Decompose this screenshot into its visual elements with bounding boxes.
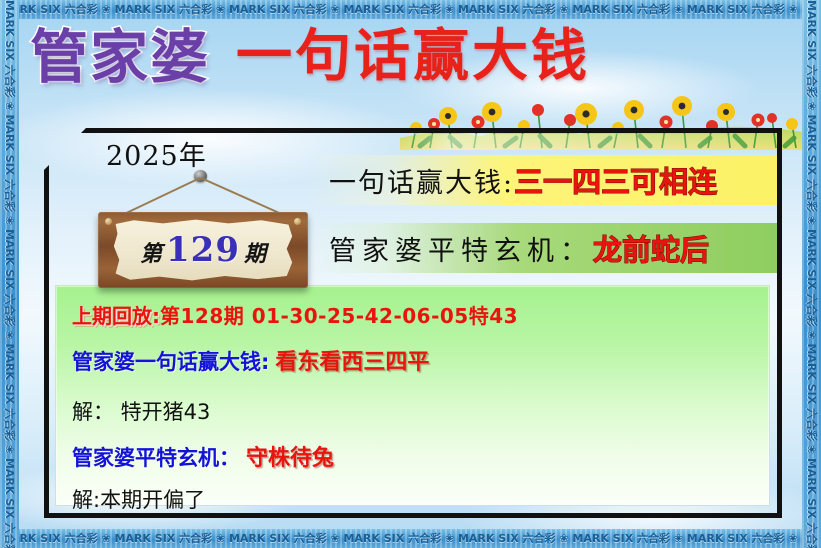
- issue-prefix: 第: [140, 243, 162, 265]
- banner-green-value: 龙前蛇后: [593, 227, 709, 269]
- banner-green-label: 管家婆平特玄机：: [329, 229, 593, 268]
- border-left: MARK SIX 六合彩 ❀ MARK SIX 六合彩 ❀ MARK SIX 六…: [0, 0, 19, 548]
- sign-paper: 第 129 期: [112, 219, 294, 281]
- brand-title: 管家婆: [30, 28, 210, 86]
- issue-text: 第 129 期: [140, 233, 266, 267]
- explain-2-text: 解:本期开偏了: [72, 484, 205, 514]
- hanging-sign: 第 129 期: [80, 170, 325, 290]
- border-right-text: MARK SIX 六合彩 ❀ MARK SIX 六合彩 ❀ MARK SIX 六…: [802, 0, 821, 548]
- page-root: 管家婆 一句话赢大钱 一句话赢大钱: 三一四三可相连 管家婆平特玄机： 龙前蛇后…: [0, 0, 821, 548]
- border-right: MARK SIX 六合彩 ❀ MARK SIX 六合彩 ❀ MARK SIX 六…: [802, 0, 821, 548]
- banner-yellow-value: 三一四三可相连: [514, 159, 717, 201]
- border-top: MARK SIX 六合彩 ❀ MARK SIX 六合彩 ❀ MARK SIX 六…: [0, 0, 821, 19]
- panel-row-xuanji: 管家婆平特玄机： 守株待兔: [72, 440, 769, 472]
- headline-slogan: 一句话赢大钱: [236, 28, 590, 84]
- issue-number: 129: [166, 233, 240, 267]
- banner-green: 管家婆平特玄机： 龙前蛇后: [307, 223, 777, 273]
- panel-row-explain-2: 解:本期开偏了: [72, 484, 769, 514]
- slogan-label: 管家婆一句话赢大钱:: [72, 346, 269, 376]
- border-bottom-text: MARK SIX 六合彩 ❀ MARK SIX 六合彩 ❀ MARK SIX 六…: [0, 529, 821, 548]
- page-headline: 管家婆 一句话赢大钱: [30, 28, 590, 86]
- content-panel: 上期回放: 第128期 01-30-25-42-06-05特43 管家婆一句话赢…: [55, 285, 770, 506]
- issue-suffix: 期: [244, 243, 266, 265]
- sign-plaque: 第 129 期: [98, 212, 308, 288]
- xuanji-label: 管家婆平特玄机：: [72, 442, 240, 472]
- explain-1-text: 解： 特开猪43: [72, 396, 210, 426]
- replay-value: 第128期 01-30-25-42-06-05特43: [160, 300, 518, 329]
- border-bottom: MARK SIX 六合彩 ❀ MARK SIX 六合彩 ❀ MARK SIX 六…: [0, 529, 821, 548]
- panel-row-replay: 上期回放: 第128期 01-30-25-42-06-05特43: [72, 300, 769, 329]
- slogan-value: 看东看西三四平: [275, 344, 429, 376]
- panel-row-slogan: 管家婆一句话赢大钱: 看东看西三四平: [72, 344, 769, 376]
- banner-yellow: 一句话赢大钱: 三一四三可相连: [307, 155, 777, 205]
- panel-row-explain-1: 解： 特开猪43: [72, 396, 769, 426]
- year-label: 2025年: [106, 134, 207, 173]
- border-left-text: MARK SIX 六合彩 ❀ MARK SIX 六合彩 ❀ MARK SIX 六…: [0, 0, 19, 548]
- xuanji-value: 守株待兔: [246, 440, 334, 472]
- border-top-text: MARK SIX 六合彩 ❀ MARK SIX 六合彩 ❀ MARK SIX 六…: [0, 0, 821, 19]
- replay-label: 上期回放:: [72, 300, 160, 329]
- banner-yellow-label: 一句话赢大钱:: [329, 161, 514, 200]
